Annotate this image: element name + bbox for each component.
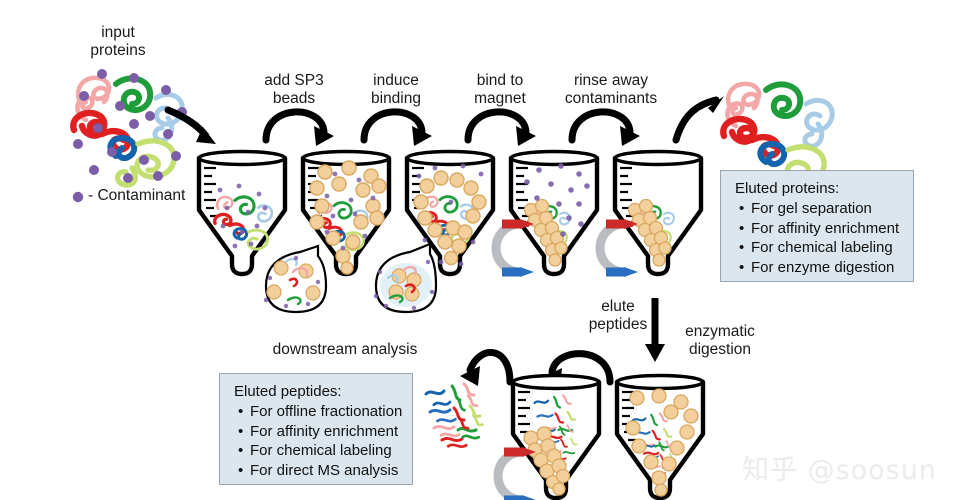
eluted-proteins-box: Eluted proteins: For gel separation For … [720, 170, 914, 282]
arrow-rinse-away [572, 112, 640, 146]
tube-input-proteins [199, 152, 285, 275]
tube-bind-to-magnet [496, 152, 597, 278]
eluted-peptide-cluster [426, 384, 482, 447]
label-enzymatic-digestion: enzymatic digestion [672, 323, 768, 359]
tube-rinse-away [600, 152, 701, 278]
list-item: For affinity enrichment [250, 422, 412, 442]
eluted-peptides-box: Eluted peptides: For offline fractionati… [219, 373, 413, 485]
list-item: For chemical labeling [250, 441, 412, 461]
contaminant-legend-dot [73, 192, 83, 202]
list-item: For enzyme digestion [751, 258, 913, 278]
arrow-add-beads [266, 112, 334, 146]
label-contaminant-legend: - Contaminant [88, 187, 208, 205]
tube-eluted-peptides [498, 376, 599, 500]
figure-canvas: input proteins add SP3 beads induce bind… [0, 0, 967, 500]
label-induce-binding: induce binding [350, 72, 442, 108]
callout-bound-proteins [374, 244, 436, 312]
arrow-induce-binding [364, 112, 432, 146]
callout-beads-proteins [264, 246, 326, 312]
eluted-proteins-title: Eluted proteins: [721, 171, 913, 199]
label-add-sp3-beads: add SP3 beads [248, 72, 340, 108]
eluted-peptides-title: Eluted peptides: [220, 374, 412, 402]
list-item: For gel separation [751, 199, 913, 219]
arrow-bind-to-magnet [468, 112, 536, 146]
eluted-proteins-list: For gel separation For affinity enrichme… [721, 199, 913, 285]
eluted-peptides-list: For offline fractionation For affinity e… [220, 402, 412, 488]
arrow-downstream-analysis [460, 352, 510, 386]
list-item: For direct MS analysis [250, 461, 412, 481]
input-protein-cluster [73, 69, 187, 185]
label-elute-peptides: elute peptides [578, 298, 658, 334]
tube-enzymatic-digestion [617, 376, 703, 499]
label-input-proteins: input proteins [62, 24, 174, 60]
arrow-input-to-tube1 [168, 110, 216, 144]
label-bind-to-magnet: bind to magnet [454, 72, 546, 108]
list-item: For affinity enrichment [751, 219, 913, 239]
list-item: For chemical labeling [751, 238, 913, 258]
label-rinse-away-contaminants: rinse away contaminants [552, 72, 670, 108]
arrow-to-eluted-proteins [676, 96, 724, 140]
label-downstream-analysis: downstream analysis [250, 341, 440, 359]
list-item: For offline fractionation [250, 402, 412, 422]
watermark: 知乎 @soosun [742, 448, 937, 487]
